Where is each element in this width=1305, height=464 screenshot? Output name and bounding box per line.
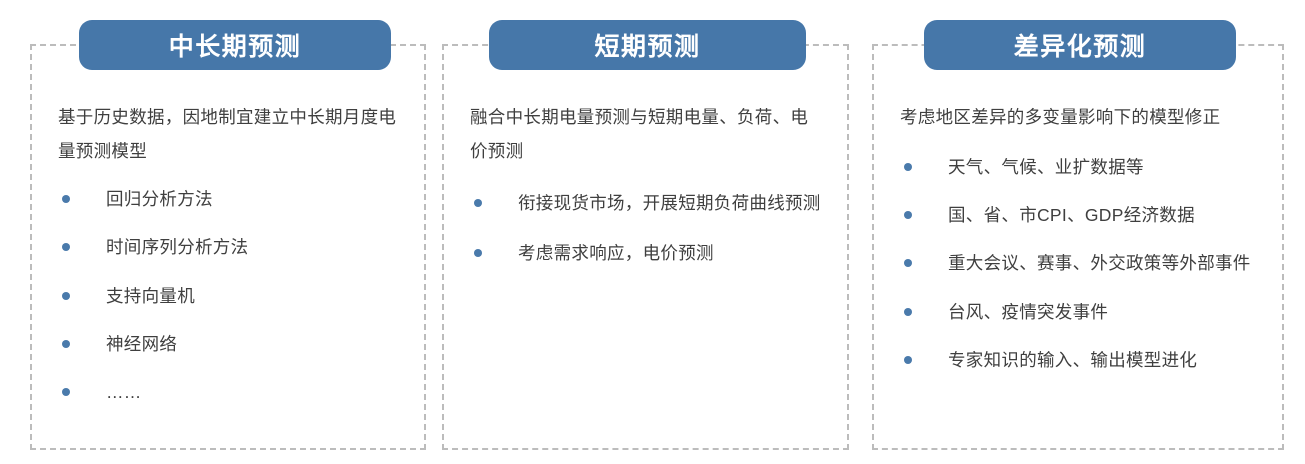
card-medium-long-term-forecast: 基于历史数据，因地制宜建立中长期月度电量预测模型 回归分析方法 时间序列分析方法… [30, 44, 426, 450]
list-item-label: 国、省、市CPI、GDP经济数据 [948, 205, 1195, 225]
card-title-pill-short-term: 短期预测 [489, 20, 806, 70]
forecast-cards-board: 基于历史数据，因地制宜建立中长期月度电量预测模型 回归分析方法 时间序列分析方法… [0, 0, 1305, 464]
card-lead-text: 考虑地区差异的多变量影响下的模型修正 [900, 100, 1260, 134]
list-item-label: 时间序列分析方法 [106, 237, 248, 257]
list-item-label: 衔接现货市场，开展短期负荷曲线预测 [518, 193, 821, 213]
card-bullet-list: 回归分析方法 时间序列分析方法 支持向量机 神经网络 …… [58, 182, 402, 409]
list-item: 国、省、市CPI、GDP经济数据 [900, 198, 1260, 232]
card-body: 基于历史数据，因地制宜建立中长期月度电量预测模型 回归分析方法 时间序列分析方法… [32, 46, 424, 448]
card-short-term-forecast: 融合中长期电量预测与短期电量、负荷、电价预测 衔接现货市场，开展短期负荷曲线预测… [442, 44, 849, 450]
bullet-dot-icon [904, 356, 912, 364]
bullet-dot-icon [904, 259, 912, 267]
list-item-label: 支持向量机 [106, 286, 195, 306]
bullet-dot-icon [62, 340, 70, 348]
bullet-dot-icon [474, 249, 482, 257]
bullet-dot-icon [62, 388, 70, 396]
list-item-label: 台风、疫情突发事件 [948, 302, 1108, 322]
card-body: 考虑地区差异的多变量影响下的模型修正 天气、气候、业扩数据等 国、省、市CPI、… [874, 46, 1282, 448]
bullet-dot-icon [62, 195, 70, 203]
list-item: 支持向量机 [58, 279, 402, 313]
list-item: 时间序列分析方法 [58, 230, 402, 264]
card-lead-text: 融合中长期电量预测与短期电量、负荷、电价预测 [470, 100, 825, 168]
bullet-dot-icon [62, 292, 70, 300]
card-body: 融合中长期电量预测与短期电量、负荷、电价预测 衔接现货市场，开展短期负荷曲线预测… [444, 46, 847, 448]
card-title-pill-differentiated: 差异化预测 [924, 20, 1236, 70]
list-item: 神经网络 [58, 327, 402, 361]
list-item-label: 天气、气候、业扩数据等 [948, 157, 1144, 177]
card-title-pill-medium-long-term: 中长期预测 [79, 20, 391, 70]
card-title-label: 差异化预测 [1014, 27, 1147, 63]
list-item-label: 回归分析方法 [106, 189, 213, 209]
card-title-label: 中长期预测 [169, 27, 302, 63]
card-bullet-list: 天气、气候、业扩数据等 国、省、市CPI、GDP经济数据 重大会议、赛事、外交政… [900, 150, 1260, 377]
card-title-label: 短期预测 [594, 27, 700, 63]
bullet-dot-icon [62, 243, 70, 251]
list-item: 回归分析方法 [58, 182, 402, 216]
list-item: 考虑需求响应，电价预测 [470, 236, 825, 270]
list-item: 衔接现货市场，开展短期负荷曲线预测 [470, 186, 825, 220]
list-item: 天气、气候、业扩数据等 [900, 150, 1260, 184]
list-item: …… [58, 375, 402, 409]
card-differentiated-forecast: 考虑地区差异的多变量影响下的模型修正 天气、气候、业扩数据等 国、省、市CPI、… [872, 44, 1284, 450]
bullet-dot-icon [474, 199, 482, 207]
list-item-label: …… [106, 382, 142, 402]
list-item: 重大会议、赛事、外交政策等外部事件 [900, 246, 1260, 280]
bullet-dot-icon [904, 211, 912, 219]
list-item-label: 重大会议、赛事、外交政策等外部事件 [948, 253, 1251, 273]
bullet-dot-icon [904, 163, 912, 171]
list-item-label: 考虑需求响应，电价预测 [518, 243, 714, 263]
list-item: 台风、疫情突发事件 [900, 295, 1260, 329]
card-lead-text: 基于历史数据，因地制宜建立中长期月度电量预测模型 [58, 100, 402, 168]
list-item-label: 专家知识的输入、输出模型进化 [948, 350, 1197, 370]
bullet-dot-icon [904, 308, 912, 316]
card-bullet-list: 衔接现货市场，开展短期负荷曲线预测 考虑需求响应，电价预测 [470, 186, 825, 270]
list-item-label: 神经网络 [106, 334, 177, 354]
list-item: 专家知识的输入、输出模型进化 [900, 343, 1260, 377]
